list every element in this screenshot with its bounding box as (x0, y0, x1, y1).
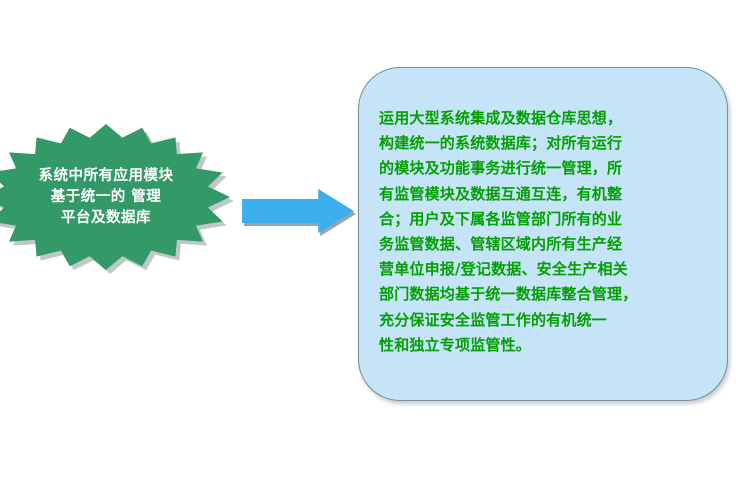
flow-arrow-icon[interactable] (242, 188, 354, 234)
star-callout[interactable]: 系统中所有应用模块 基于统一的 管理 平台及数据库 (0, 124, 230, 270)
star-callout-text: 系统中所有应用模块 基于统一的 管理 平台及数据库 (0, 124, 230, 270)
panel-text-line-7: 营单位申报/登记数据、安全生产相关 (379, 257, 713, 282)
panel-text-line-10: 性和独立专项监管性。 (379, 333, 713, 358)
panel-text-line-6: 务监管数据、管辖区域内所有生产经 (379, 232, 713, 257)
panel-text-line-5: 合；用户及下属各监管部门所有的业 (379, 207, 713, 232)
description-panel-text: 运用大型系统集成及数据仓库思想， 构建统一的系统数据库；对所有运行 的模块及功能… (379, 106, 713, 358)
panel-text-line-9: 充分保证安全监管工作的有机统一 (379, 308, 713, 333)
arrow-right-icon (242, 188, 354, 234)
description-panel[interactable]: 运用大型系统集成及数据仓库思想， 构建统一的系统数据库；对所有运行 的模块及功能… (358, 67, 728, 401)
star-text-line-2: 基于统一的 管理 (51, 187, 162, 208)
slide-canvas: 系统中所有应用模块 基于统一的 管理 平台及数据库 运用大型系统集成及数据仓库思… (0, 0, 736, 487)
star-text-line-3: 平台及数据库 (61, 208, 151, 229)
panel-text-line-8: 部门数据均基于统一数据库整合管理， (379, 282, 713, 307)
panel-text-line-1: 运用大型系统集成及数据仓库思想， (379, 106, 713, 131)
panel-text-line-3: 的模块及功能事务进行统一管理，所 (379, 156, 713, 181)
panel-text-line-4: 有监管模块及数据互通互连，有机整 (379, 182, 713, 207)
panel-text-line-2: 构建统一的系统数据库；对所有运行 (379, 131, 713, 156)
star-text-line-1: 系统中所有应用模块 (39, 166, 174, 187)
